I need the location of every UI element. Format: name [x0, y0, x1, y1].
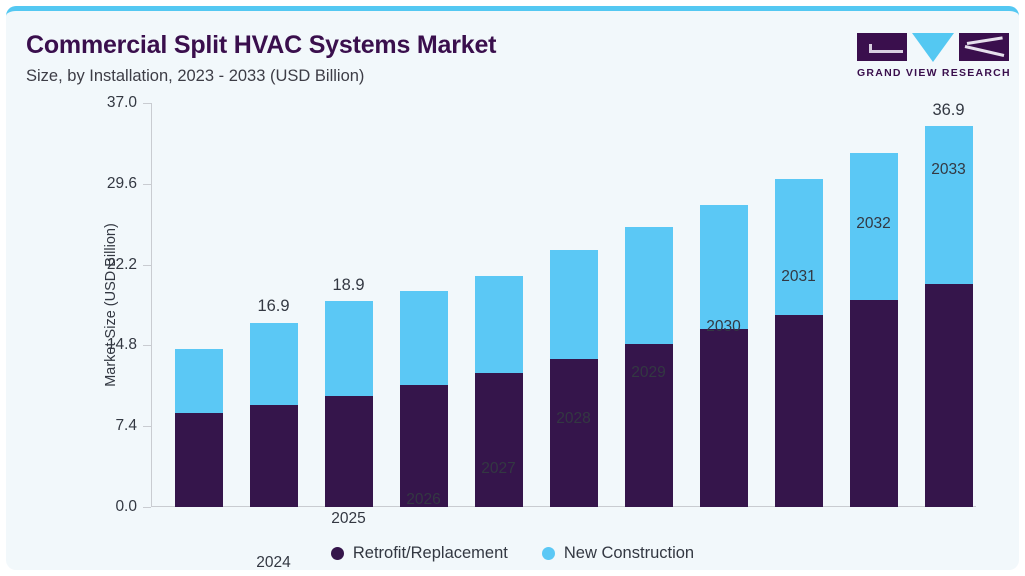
y-axis-title: Market Size (USD Billion) [103, 223, 119, 387]
y-axis-tick-label: 14.8 [107, 336, 137, 354]
r-mark-diagonal-2 [967, 36, 1003, 45]
bar-group[interactable]: 36.92033 [925, 126, 973, 507]
y-axis-tick-label: 37.0 [107, 94, 137, 112]
bar-group[interactable]: 2028 [550, 250, 598, 507]
legend-color-dot [331, 547, 344, 560]
y-axis-line [151, 103, 152, 507]
chart-legend: Retrofit/ReplacementNew Construction [6, 544, 1019, 563]
bar-segment-retrofit-replacement[interactable] [700, 329, 748, 507]
bar-segment-new-construction[interactable] [400, 291, 448, 385]
bar-segment-new-construction[interactable] [925, 126, 973, 284]
bar-segment-new-construction[interactable] [475, 276, 523, 373]
bar-segment-new-construction[interactable] [325, 301, 373, 396]
x-axis-tick-label: 2026 [406, 491, 440, 509]
g-mark-slot [869, 50, 903, 53]
bar-segment-retrofit-replacement[interactable] [925, 284, 973, 507]
y-axis-tick-label: 29.6 [107, 175, 137, 193]
bar-group[interactable]: 2031 [775, 179, 823, 507]
page-title: Commercial Split HVAC Systems Market [26, 31, 496, 60]
g-mark-icon [857, 33, 907, 61]
y-axis-tick [143, 103, 151, 104]
y-axis-tick-label: 0.0 [115, 498, 137, 516]
bar-segment-new-construction[interactable] [175, 349, 223, 413]
bar-segment-new-construction[interactable] [775, 179, 823, 314]
y-axis-tick [143, 184, 151, 185]
bar-segment-retrofit-replacement[interactable] [325, 396, 373, 507]
bar-segment-retrofit-replacement[interactable] [400, 385, 448, 507]
bar-group[interactable]: 2027 [475, 276, 523, 507]
y-axis-tick [143, 265, 151, 266]
logo-marks [857, 33, 1009, 63]
bar-segment-retrofit-replacement[interactable] [850, 300, 898, 507]
legend-item[interactable]: New Construction [542, 544, 694, 563]
x-axis-tick-label: 2030 [706, 318, 740, 336]
grand-view-research-logo: GRAND VIEW RESEARCH [857, 33, 1009, 87]
legend-label: New Construction [564, 544, 694, 563]
page-subtitle: Size, by Installation, 2023 - 2033 (USD … [26, 67, 364, 86]
bar-segment-retrofit-replacement[interactable] [475, 373, 523, 507]
y-axis-tick [143, 426, 151, 427]
x-axis-tick-label: 2025 [331, 510, 365, 528]
x-axis-tick-label: 2029 [631, 364, 665, 382]
bar-segment-new-construction[interactable] [700, 205, 748, 329]
bar-value-label: 36.9 [932, 101, 964, 120]
chart-plot-area: Market Size (USD Billion) 0.07.414.822.2… [151, 103, 976, 507]
bar-segment-new-construction[interactable] [625, 227, 673, 344]
bar-segment-new-construction[interactable] [250, 323, 298, 406]
r-mark-diagonal [965, 45, 1005, 57]
bar-group[interactable]: 2023 [175, 349, 223, 507]
legend-item[interactable]: Retrofit/Replacement [331, 544, 508, 563]
bar-group[interactable]: 2026 [400, 291, 448, 507]
legend-label: Retrofit/Replacement [353, 544, 508, 563]
bar-group[interactable]: 16.92024 [250, 322, 298, 507]
bar-segment-retrofit-replacement[interactable] [175, 413, 223, 507]
bar-segment-new-construction[interactable] [550, 250, 598, 358]
bar-group[interactable]: 2032 [850, 153, 898, 507]
y-axis-tick [143, 345, 151, 346]
bar-segment-retrofit-replacement[interactable] [250, 405, 298, 507]
bar-group[interactable]: 18.92025 [325, 301, 373, 507]
y-axis-tick [143, 507, 151, 508]
chart-card: Commercial Split HVAC Systems Market Siz… [6, 6, 1019, 570]
bar-value-label: 16.9 [257, 297, 289, 316]
v-triangle-icon [912, 33, 954, 62]
x-axis-tick-label: 2031 [781, 268, 815, 286]
x-axis-tick-label: 2027 [481, 460, 515, 478]
y-axis-tick-label: 7.4 [115, 417, 137, 435]
bar-segment-retrofit-replacement[interactable] [550, 359, 598, 507]
legend-color-dot [542, 547, 555, 560]
logo-text: GRAND VIEW RESEARCH [857, 67, 1009, 79]
x-axis-tick-label: 2028 [556, 410, 590, 428]
r-mark-icon [959, 33, 1009, 61]
y-axis-tick-label: 22.2 [107, 256, 137, 274]
x-axis-tick-label: 2033 [931, 161, 965, 179]
bar-value-label: 18.9 [332, 276, 364, 295]
bar-segment-retrofit-replacement[interactable] [775, 315, 823, 507]
bar-group[interactable]: 2030 [700, 205, 748, 507]
x-axis-tick-label: 2032 [856, 215, 890, 233]
bar-group[interactable]: 2029 [625, 227, 673, 507]
